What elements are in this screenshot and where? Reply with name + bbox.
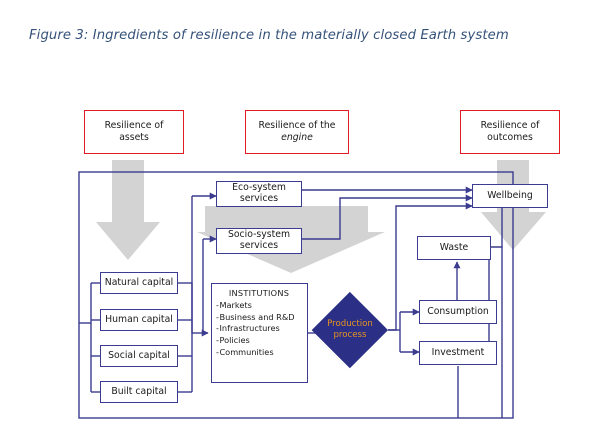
diagram-canvas: Resilience of assets Resilience of the e…	[0, 0, 600, 433]
node-waste: Waste	[417, 236, 491, 260]
callout-resilience-of-assets: Resilience of assets	[84, 110, 184, 154]
social-capital-label: Social capital	[108, 351, 170, 362]
callout-resilience-of-outcomes: Resilience of outcomes	[460, 110, 560, 154]
production-process-line1: Production	[327, 319, 373, 329]
natural-capital-label: Natural capital	[105, 278, 173, 289]
node-investment: Investment	[419, 341, 497, 365]
sociosystem-to-wellbeing	[302, 198, 472, 239]
callout-outcomes-line2: outcomes	[487, 132, 533, 143]
node-consumption: Consumption	[419, 300, 497, 324]
institutions-item: Infrastructures	[216, 323, 305, 335]
callout-engine-line1: Resilience of the	[259, 120, 336, 131]
socio-system-services-line1: Socio-system	[228, 229, 290, 240]
node-built-capital: Built capital	[100, 381, 178, 403]
built-capital-label: Built capital	[111, 387, 166, 398]
node-natural-capital: Natural capital	[100, 272, 178, 294]
node-socio-system-services: Socio-system services	[216, 228, 302, 254]
institutions-item: Policies	[216, 335, 305, 347]
node-institutions: INSTITUTIONS Markets Business and R&D In…	[211, 283, 308, 383]
callout-engine-line2: engine	[281, 132, 313, 143]
node-human-capital: Human capital	[100, 309, 178, 331]
wellbeing-label: Wellbeing	[487, 191, 533, 202]
institutions-list: Markets Business and R&D Infrastructures…	[216, 300, 305, 358]
callout-outcomes-line1: Resilience of	[481, 120, 540, 131]
production-process-line2: process	[333, 330, 366, 340]
eco-system-services-line1: Eco-system	[232, 182, 286, 193]
institutions-heading: INSTITUTIONS	[216, 288, 305, 298]
callout-assets-line1: Resilience of	[105, 120, 164, 131]
institutions-item: Business and R&D	[216, 312, 305, 324]
socio-system-services-line2: services	[240, 240, 278, 251]
human-capital-label: Human capital	[105, 315, 173, 326]
investment-to-waste-riser	[473, 247, 489, 341]
node-wellbeing: Wellbeing	[472, 184, 548, 208]
node-eco-system-services: Eco-system services	[216, 181, 302, 207]
institutions-item: Communities	[216, 347, 305, 359]
investment-label: Investment	[432, 348, 485, 359]
institutions-item: Markets	[216, 300, 305, 312]
waste-label: Waste	[440, 243, 469, 254]
callout-assets-line2: assets	[119, 132, 149, 143]
production-process-label: Production process	[312, 292, 388, 368]
node-social-capital: Social capital	[100, 345, 178, 367]
wellbeing-to-waste	[491, 212, 502, 247]
consumption-label: Consumption	[427, 307, 489, 318]
node-production-process: Production process	[312, 292, 388, 368]
eco-system-services-line2: services	[240, 193, 278, 204]
callout-resilience-of-engine: Resilience of the engine	[245, 110, 349, 154]
